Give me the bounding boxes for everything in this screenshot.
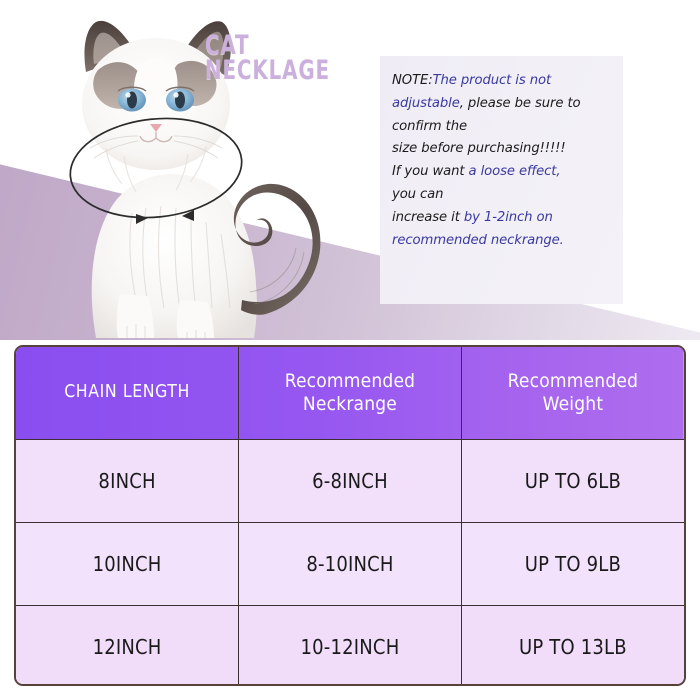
note-body-text: NOTE: (392, 73, 433, 88)
cat-illustration (28, 8, 338, 338)
hero-section: CATNECKLAGE NOTE:The product is not adju… (0, 0, 700, 340)
note-body-text: size before purchasing!!!!! (392, 141, 566, 156)
size-chart-table: CHAIN LENGTH Recommended Neckrange Recom… (14, 345, 686, 686)
cell-chain-length: 8INCH (16, 439, 239, 522)
note-card: NOTE:The product is not adjustable, plea… (380, 56, 623, 304)
cell-chain-length: 12INCH (16, 605, 239, 686)
table-row: 8INCH 6-8INCH UP TO 6LB (16, 439, 684, 522)
note-body-text: If you want (392, 164, 469, 179)
cat-body (92, 174, 257, 338)
table-row: 12INCH 10-12INCH UP TO 13LB (16, 605, 684, 686)
table-header: CHAIN LENGTH Recommended Neckrange Recom… (16, 347, 684, 439)
cell-neckrange: 10-12INCH (239, 605, 462, 686)
table-header-row: CHAIN LENGTH Recommended Neckrange Recom… (16, 347, 684, 439)
cell-neckrange: 6-8INCH (239, 439, 462, 522)
cell-weight: UP TO 6LB (461, 439, 684, 522)
product-size-chart-page: CATNECKLAGE NOTE:The product is not adju… (0, 0, 700, 700)
column-header-chain-length: CHAIN LENGTH (16, 347, 239, 439)
cell-weight: UP TO 9LB (461, 522, 684, 605)
table-row: 10INCH 8-10INCH UP TO 9LB (16, 522, 684, 605)
note-body-text: you can (392, 187, 443, 202)
note-body-text: increase it (392, 210, 464, 225)
column-header-recommended-neckrange: Recommended Neckrange (239, 347, 462, 439)
cell-neckrange: 8-10INCH (239, 522, 462, 605)
note-text: NOTE:The product is not adjustable, plea… (392, 70, 617, 253)
cat-head (82, 21, 231, 192)
cat-photo-vector (28, 8, 338, 338)
cell-weight: UP TO 13LB (461, 605, 684, 686)
note-highlight-text: a loose effect, (469, 164, 561, 179)
table-body: 8INCH 6-8INCH UP TO 6LB 10INCH 8-10INCH … (16, 439, 684, 686)
column-header-recommended-weight: Recommended Weight (461, 347, 684, 439)
cell-chain-length: 10INCH (16, 522, 239, 605)
size-table-element: CHAIN LENGTH Recommended Neckrange Recom… (16, 347, 684, 686)
